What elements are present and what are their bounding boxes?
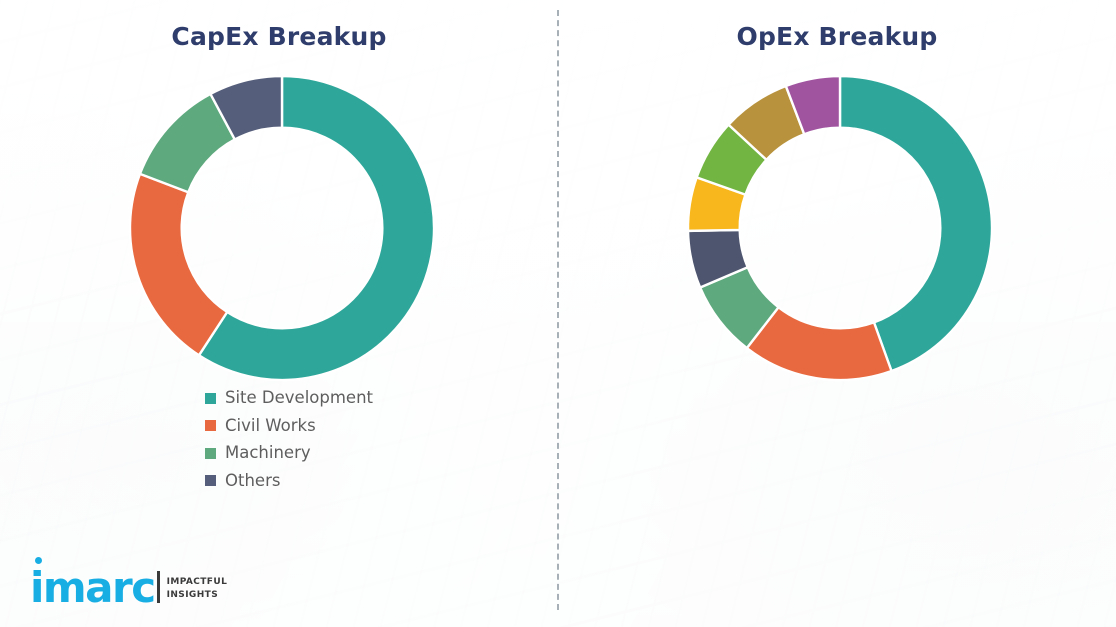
imarc-logo: imarc IMPACTFUL INSIGHTS xyxy=(30,570,227,605)
capex-chart-title: CapEx Breakup xyxy=(0,22,558,51)
capex-panel: CapEx Breakup Site DevelopmentCivil Work… xyxy=(0,0,558,627)
slide-content: CapEx Breakup Site DevelopmentCivil Work… xyxy=(0,0,1116,627)
capex-legend-item: Civil Works xyxy=(205,418,373,435)
capex-legend-item: Others xyxy=(205,473,373,490)
logo-dot-icon xyxy=(35,557,42,564)
legend-swatch-icon xyxy=(205,448,216,459)
capex-legend-item: Machinery xyxy=(205,445,373,462)
donut-slice xyxy=(130,174,227,355)
capex-donut-svg xyxy=(122,68,442,388)
legend-label: Site Development xyxy=(225,390,373,407)
opex-donut-svg xyxy=(680,68,1000,388)
legend-label: Civil Works xyxy=(225,418,316,435)
legend-swatch-icon xyxy=(205,393,216,404)
legend-label: Others xyxy=(225,473,280,490)
capex-donut-chart xyxy=(122,68,442,388)
logo-tagline: IMPACTFUL INSIGHTS xyxy=(167,576,228,602)
legend-swatch-icon xyxy=(205,475,216,486)
logo-wordmark-text: imarc xyxy=(30,563,155,612)
legend-label: Machinery xyxy=(225,445,311,462)
capex-legend-item: Site Development xyxy=(205,390,373,407)
legend-swatch-icon xyxy=(205,420,216,431)
opex-chart-title: OpEx Breakup xyxy=(558,22,1116,51)
logo-wordmark: imarc xyxy=(30,570,155,605)
capex-legend: Site DevelopmentCivil WorksMachineryOthe… xyxy=(205,390,373,500)
logo-separator-bar xyxy=(157,571,160,603)
logo-tagline-line2: INSIGHTS xyxy=(167,589,228,602)
logo-tagline-line1: IMPACTFUL xyxy=(167,576,228,589)
opex-panel: OpEx Breakup Raw MaterialsSalaries and W… xyxy=(558,0,1116,627)
opex-donut-chart xyxy=(680,68,1000,388)
